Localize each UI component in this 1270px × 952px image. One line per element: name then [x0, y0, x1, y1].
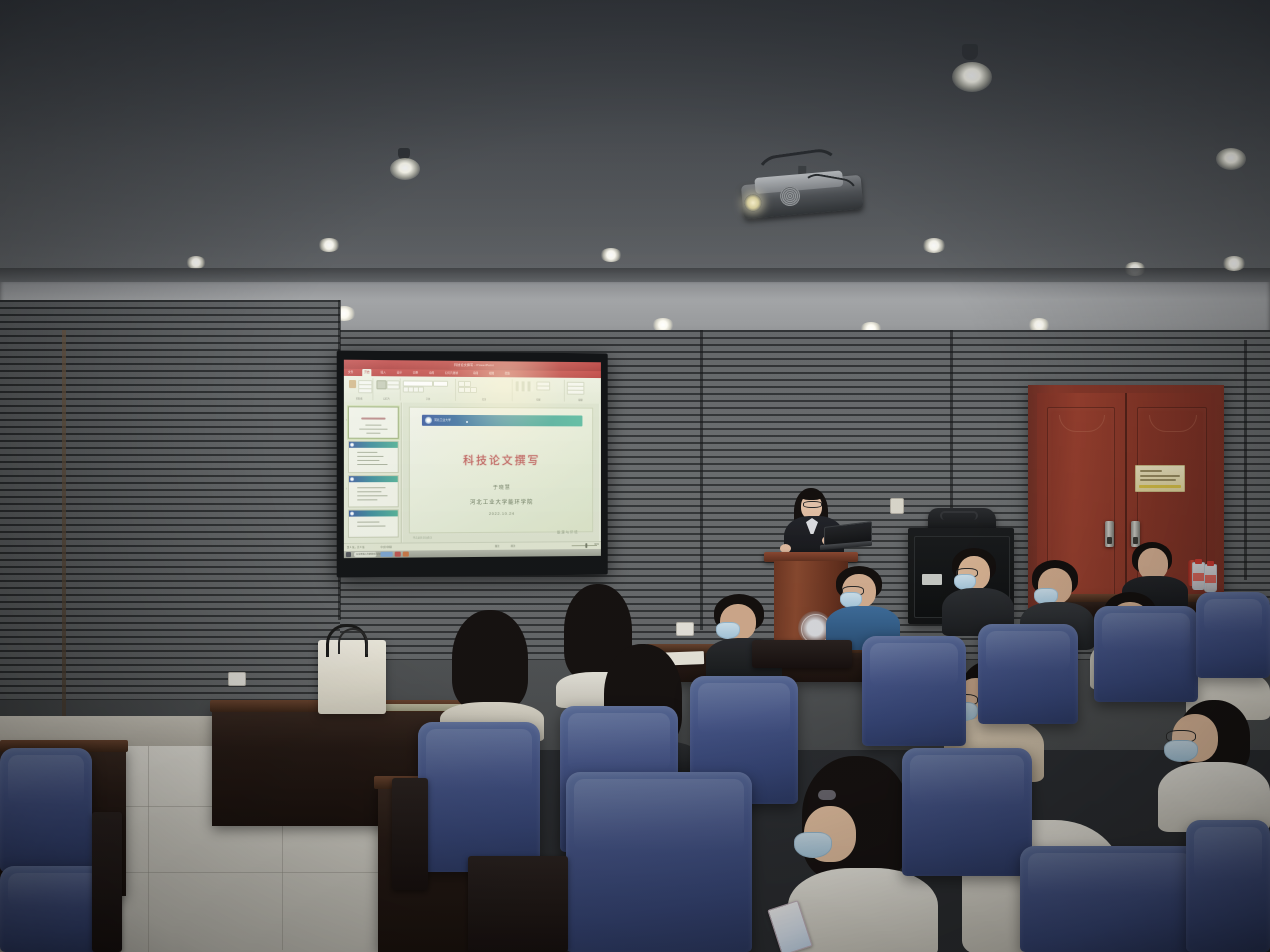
ribbon-tab-view[interactable]: 视图	[489, 371, 494, 375]
slide-thumbnail-panel[interactable]: 1 2	[344, 402, 402, 544]
auditorium-seat[interactable]	[1186, 820, 1270, 952]
wall-outlet	[676, 622, 694, 636]
door-notice-plaque	[1135, 465, 1185, 492]
university-logo-icon	[425, 417, 432, 424]
hair	[452, 610, 528, 710]
format-painter-button[interactable]	[358, 388, 372, 393]
zoom-slider-handle[interactable]	[585, 543, 587, 548]
seat-armrest	[468, 856, 568, 952]
audience-member	[1158, 700, 1270, 830]
ribbon-tab-file[interactable]: 文件	[348, 370, 353, 374]
slide-thumbnail[interactable]: 4	[348, 509, 399, 538]
auditorium-seat[interactable]	[1196, 592, 1270, 678]
ribbon-group-editing: 编辑	[565, 380, 596, 402]
ribbon-tab-help[interactable]: 帮助	[505, 371, 510, 375]
rack-control-panel[interactable]	[922, 574, 942, 585]
audience-member	[942, 548, 1014, 634]
slide-date: 2022.10.24	[410, 510, 592, 516]
wall-slat-texture	[0, 300, 340, 700]
pendant-light	[390, 158, 420, 180]
ribbon-tab-transitions[interactable]: 切换	[413, 370, 418, 374]
thumbnail-banner	[349, 442, 398, 448]
face-mask	[1164, 740, 1198, 762]
thumbnail-text-line	[357, 452, 377, 453]
bottle-label	[1193, 573, 1204, 581]
backpack-strap	[940, 511, 978, 520]
bottle-cap	[1195, 559, 1202, 564]
thumbnail-text-line	[357, 460, 379, 461]
thumbnail-text-line	[357, 495, 387, 496]
ribbon-group-label: 幻灯片	[373, 396, 399, 400]
align-right-button[interactable]	[470, 387, 477, 393]
face-mask	[716, 622, 740, 639]
paste-icon[interactable]	[349, 380, 356, 388]
windows-taskbar[interactable]: 在这里输入你要搜索的内容	[344, 549, 601, 558]
auditorium-seat[interactable]	[1094, 606, 1198, 702]
auditorium-seat[interactable]	[978, 624, 1078, 724]
ribbon-tab-slideshow[interactable]: 幻灯片放映	[445, 371, 458, 375]
downlight	[1222, 256, 1246, 271]
ribbon-group-clipboard: 剪贴板	[346, 378, 373, 400]
auditorium-seat[interactable]	[0, 748, 92, 872]
banner-dot-icon	[466, 421, 468, 423]
downlight	[600, 248, 622, 262]
bottle-cap	[1207, 561, 1214, 566]
font-size-select[interactable]	[433, 381, 448, 387]
taskbar-app-icon[interactable]	[381, 552, 393, 557]
slide-banner: 河北工业大学	[422, 415, 582, 427]
ribbon-group-drawing: 绘图	[513, 379, 565, 401]
window-title: 科技论文撰写 - PowerPoint	[454, 363, 494, 367]
reset-button[interactable]	[387, 384, 400, 389]
ribbon-group-paragraph: 段落	[456, 379, 513, 401]
seat-armrest	[752, 640, 852, 668]
ribbon-tab-review[interactable]: 审阅	[473, 371, 478, 375]
active-slide[interactable]: 河北工业大学 科技论文撰写 于晓慧 河北工业大学能环学院 2022.10.24 …	[409, 407, 593, 534]
thumbnail-text-line	[365, 425, 381, 426]
left-wall	[0, 300, 340, 760]
audience-member	[440, 610, 544, 740]
quick-styles-button[interactable]	[536, 385, 550, 390]
ribbon-group-label: 剪贴板	[346, 396, 372, 400]
thumbnail-text-line	[359, 429, 387, 430]
presenter-laptop[interactable]	[820, 524, 870, 548]
ribbon-group-label: 绘图	[513, 397, 564, 401]
thumbnail-text-line	[357, 526, 385, 527]
door-handle[interactable]	[1105, 521, 1114, 547]
powerpoint-workspace: 1 2	[344, 402, 601, 544]
ribbon-tab-home[interactable]: 开始	[362, 369, 371, 376]
wall-outlet	[890, 498, 904, 514]
thumbnail-text-line	[357, 491, 381, 492]
ribbon-tab-insert[interactable]: 插入	[381, 370, 386, 374]
slide-thumbnail[interactable]: 1	[348, 406, 399, 439]
slide-organization: 河北工业大学能环学院	[410, 498, 592, 507]
select-button[interactable]	[567, 390, 585, 395]
presenter-fringe	[800, 490, 823, 500]
slide-indicator: 第 1 张，共 4 张	[347, 545, 365, 549]
slide-notes-placeholder[interactable]: 单击此处添加备注	[413, 535, 432, 539]
auditorium-seat[interactable]	[566, 772, 752, 952]
ribbon-group-label: 字体	[401, 397, 455, 401]
ribbon-tab-design[interactable]: 设计	[397, 370, 402, 374]
tote-bag	[318, 640, 386, 714]
projection-screen-surface: 科技论文撰写 - PowerPoint 文件 开始 插入 设计 切换 动画 幻灯…	[344, 360, 601, 558]
projection-screen: 科技论文撰写 - PowerPoint 文件 开始 插入 设计 切换 动画 幻灯…	[337, 351, 608, 578]
thumbnail-text-line	[357, 522, 379, 523]
thumbnail-logo-icon	[350, 443, 354, 447]
powerpoint-window: 科技论文撰写 - PowerPoint 文件 开始 插入 设计 切换 动画 幻灯…	[344, 360, 601, 558]
door-lock-icon	[1107, 537, 1112, 544]
thumbnail-banner	[349, 476, 398, 482]
ribbon-tab-animations[interactable]: 动画	[429, 371, 434, 375]
thumbnail-logo-icon	[350, 477, 354, 481]
thumbnail-banner	[349, 510, 398, 516]
plaque-text-line	[1140, 470, 1162, 472]
slide-thumbnail[interactable]: 2	[348, 441, 399, 473]
pendant-light	[1216, 148, 1246, 170]
pendant-light	[952, 62, 992, 92]
plaque-text-line	[1140, 479, 1176, 481]
shapes-icon[interactable]	[516, 381, 534, 391]
auditorium-seat[interactable]	[1020, 846, 1200, 952]
thumbnail-text-line	[357, 464, 387, 465]
wall-seam	[1244, 340, 1247, 580]
taskbar-app-icon[interactable]	[395, 552, 401, 557]
thumbnail-text-line	[357, 456, 383, 457]
pendant-light-body	[962, 44, 978, 60]
wall-outlet	[228, 672, 246, 686]
ribbon-group-label: 段落	[456, 397, 512, 401]
water-bottle	[1204, 564, 1217, 592]
seat-armrest	[92, 812, 122, 952]
wall-seam	[62, 330, 66, 730]
thumbnail-text-line	[357, 499, 377, 500]
slide-presenter: 于晓慧	[410, 484, 592, 491]
downlight	[922, 238, 946, 253]
bottle-label	[1205, 575, 1216, 583]
thumbnail-number: 1	[346, 419, 347, 421]
language-indicator[interactable]: 中文(中国)	[381, 545, 392, 549]
ribbon-group-label: 编辑	[565, 398, 596, 402]
face-mask	[794, 832, 832, 858]
slide-thumbnail[interactable]: 3	[348, 475, 399, 507]
slide-footer: 能源与环境	[557, 529, 578, 534]
lecture-hall-photo: 科技论文撰写 - PowerPoint 文件 开始 插入 设计 切换 动画 幻灯…	[0, 0, 1270, 952]
seat-armrest	[392, 778, 428, 890]
comments-toggle[interactable]: 批注	[511, 544, 516, 548]
tote-handle	[338, 628, 368, 654]
presenter-glasses	[803, 501, 822, 508]
ribbon-group-font: 字体	[401, 378, 456, 400]
taskbar-search-placeholder: 在这里输入你要搜索的内容	[356, 553, 381, 556]
thumbnail-title-line	[361, 417, 385, 419]
auditorium-seat[interactable]	[862, 636, 966, 746]
slide-title: 科技论文撰写	[410, 452, 592, 468]
plaque-highlight-bar	[1139, 485, 1181, 488]
plaque-text-line	[1140, 475, 1180, 477]
font-color-button[interactable]	[418, 387, 424, 393]
new-slide-icon[interactable]	[376, 380, 386, 389]
thumbnail-text-line	[357, 487, 385, 488]
wall-seam	[700, 330, 703, 630]
notes-toggle[interactable]: 备注	[495, 544, 500, 548]
thumbnail-logo-icon	[350, 512, 354, 516]
ribbon-group-slides: 幻灯片	[373, 378, 400, 400]
thumbnail-text-line	[366, 433, 380, 434]
downlight	[318, 238, 340, 252]
hair-tie	[818, 790, 836, 800]
banner-logo-text: 河北工业大学	[434, 418, 451, 422]
ribbon: 剪贴板 幻灯片 字体	[344, 376, 601, 405]
auditorium-seat[interactable]	[418, 722, 540, 872]
start-button[interactable]	[346, 552, 351, 557]
floor-tile-line	[148, 742, 149, 952]
taskbar-app-icon[interactable]	[403, 552, 409, 557]
slide-editing-area[interactable]: 河北工业大学 科技论文撰写 于晓慧 河北工业大学能环学院 2022.10.24 …	[403, 403, 599, 544]
auditorium-seat[interactable]	[902, 748, 1032, 876]
